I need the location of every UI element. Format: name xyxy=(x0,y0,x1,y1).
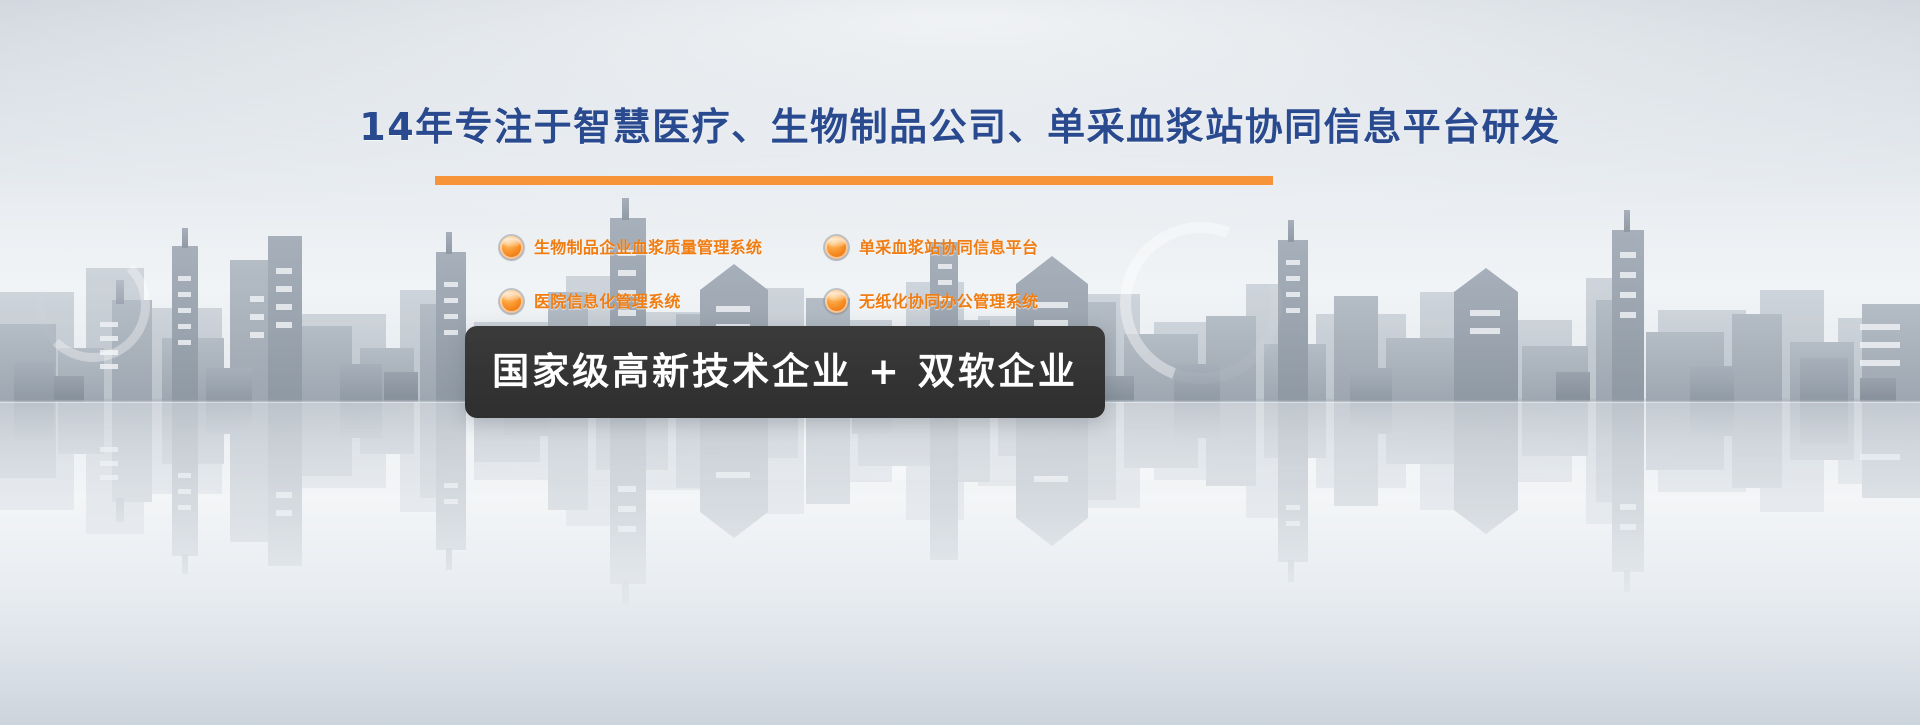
headline-underline-rule xyxy=(435,176,1273,185)
headline-container: 14年专注于智慧医疗、生物制品公司、单采血浆站协同信息平台研发 xyxy=(0,104,1920,150)
feature-item-paperless-office[interactable]: 无纸化协同办公管理系统 xyxy=(825,290,1165,313)
orange-sphere-bullet-icon xyxy=(500,236,523,259)
certification-badge: 国家级高新技术企业 + 双软企业 xyxy=(465,326,1105,418)
banner-content: 14年专注于智慧医疗、生物制品公司、单采血浆站协同信息平台研发 生物制品企业血浆… xyxy=(0,0,1920,725)
feature-label: 医院信息化管理系统 xyxy=(534,292,681,312)
feature-label: 无纸化协同办公管理系统 xyxy=(859,292,1038,312)
banner-headline: 14年专注于智慧医疗、生物制品公司、单采血浆站协同信息平台研发 xyxy=(359,104,1560,150)
feature-label: 单采血浆站协同信息平台 xyxy=(859,238,1038,258)
hero-banner: 14年专注于智慧医疗、生物制品公司、单采血浆站协同信息平台研发 生物制品企业血浆… xyxy=(0,0,1920,725)
feature-item-plasma-station-platform[interactable]: 单采血浆站协同信息平台 xyxy=(825,236,1165,259)
orange-sphere-bullet-icon xyxy=(825,236,848,259)
feature-row: 生物制品企业血浆质量管理系统 单采血浆站协同信息平台 xyxy=(500,236,1200,259)
feature-row: 医院信息化管理系统 无纸化协同办公管理系统 xyxy=(500,290,1200,313)
certification-badge-text: 国家级高新技术企业 + 双软企业 xyxy=(492,350,1078,394)
feature-item-hospital-information[interactable]: 医院信息化管理系统 xyxy=(500,290,825,313)
feature-item-plasma-quality[interactable]: 生物制品企业血浆质量管理系统 xyxy=(500,236,825,259)
orange-sphere-bullet-icon xyxy=(825,290,848,313)
feature-list: 生物制品企业血浆质量管理系统 单采血浆站协同信息平台 医院信息化管理系统 无纸化… xyxy=(500,236,1200,313)
feature-label: 生物制品企业血浆质量管理系统 xyxy=(534,238,762,258)
orange-sphere-bullet-icon xyxy=(500,290,523,313)
